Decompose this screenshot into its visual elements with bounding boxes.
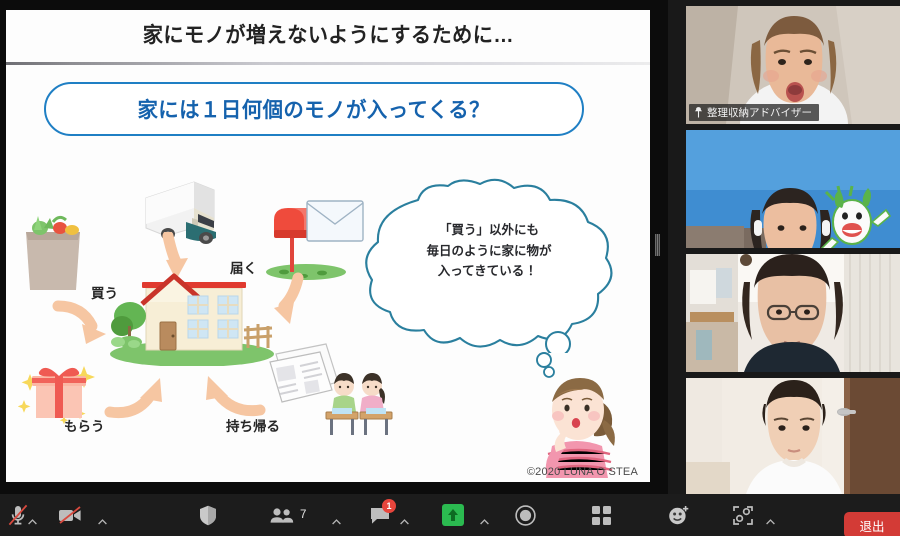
chat-button[interactable]: 1 (364, 494, 396, 536)
tile-1-name-badge: 整理収納アドバイザー (689, 104, 819, 121)
thought-bubble-line: 「買う」以外にも (358, 220, 620, 241)
share-screen-button[interactable] (436, 494, 470, 536)
video-tile-1[interactable]: 整理収納アドバイザー (686, 6, 900, 124)
video-options-chevron[interactable] (94, 494, 110, 536)
envelope-illustration (306, 200, 364, 242)
participants-options-chevron[interactable] (328, 494, 344, 536)
slide-question-text: 家には１日何個のモノが入ってくる？ (138, 94, 491, 124)
share-options-chevron[interactable] (476, 494, 492, 536)
chevron-up-icon (98, 519, 107, 525)
slide-question-box: 家には１日何個のモノが入ってくる？ (44, 82, 584, 136)
slide-copyright: ©2020 LUNA O STEA (527, 466, 638, 478)
thought-bubble: 「買う」以外にも毎日のように家に物が入ってきている ！ (358, 178, 620, 353)
participants-button[interactable] (266, 494, 298, 536)
title-divider (6, 62, 650, 65)
video-button[interactable] (52, 494, 88, 536)
chat-unread-badge: 1 (382, 499, 396, 513)
video-tile-4[interactable] (686, 378, 900, 494)
chevron-up-icon (766, 519, 775, 525)
participants-icon (270, 508, 294, 523)
leave-meeting-button[interactable]: 退出 (844, 512, 900, 536)
zoom-meeting-window: 家にモノが増えないようにするために… 家には１日何個のモノが入ってくる？ (0, 0, 900, 536)
meeting-toolbar: 7 1 (0, 494, 900, 536)
security-button[interactable] (190, 494, 226, 536)
reactions-button[interactable] (662, 494, 696, 536)
slide-title-text: 家にモノが増えないようにするために… (142, 19, 513, 49)
breakout-rooms-button[interactable] (726, 494, 760, 536)
apps-button[interactable] (584, 494, 618, 536)
chevron-up-icon (332, 519, 341, 525)
pin-icon (694, 107, 703, 118)
shared-screen-stage[interactable]: 家にモノが増えないようにするために… 家には１日何個のモノが入ってくる？ (0, 0, 668, 494)
label-bring-home: 持ち帰る (226, 415, 280, 435)
thought-bubble-line: 入ってきている ！ (358, 261, 620, 282)
share-screen-arrow-up-icon (442, 504, 464, 526)
thinking-girl-illustration (536, 368, 628, 478)
chat-options-chevron[interactable] (396, 494, 412, 536)
grocery-bag-illustration (20, 208, 86, 292)
record-circle-icon (515, 505, 536, 526)
slide-title: 家にモノが増えないようにするために… (6, 10, 650, 58)
resize-handle[interactable] (655, 234, 660, 256)
chevron-up-icon (28, 519, 37, 525)
breakout-rooms-icon (733, 505, 753, 525)
video-camera-muted-icon (58, 506, 82, 524)
record-button[interactable] (508, 494, 542, 536)
apps-grid-icon (592, 506, 611, 525)
house-illustration (108, 268, 276, 366)
presentation-slide: 家にモノが増えないようにするために… 家には１日何個のモノが入ってくる？ (6, 10, 650, 482)
chevron-up-icon (480, 519, 489, 525)
breakout-options-chevron[interactable] (762, 494, 778, 536)
shield-icon (199, 505, 217, 526)
participant-filmstrip: 整理収納アドバイザー (686, 0, 900, 494)
video-tile-3[interactable] (686, 254, 900, 372)
leave-label: 退出 (859, 516, 884, 535)
thought-bubble-line: 毎日のように家に物が (358, 241, 620, 262)
arrow-bringhome-to-house (186, 370, 268, 420)
mute-options-chevron[interactable] (24, 494, 40, 536)
participants-count: 7 (300, 494, 306, 536)
students-at-desks-illustration (324, 370, 396, 438)
smiley-plus-icon (668, 505, 690, 525)
video-tile-2[interactable] (686, 130, 900, 248)
label-receive: もらう (64, 415, 105, 435)
thought-bubble-text: 「買う」以外にも毎日のように家に物が入ってきている ！ (358, 220, 620, 282)
tile-1-name: 整理収納アドバイザー (707, 105, 812, 120)
arrow-gift-to-house (102, 372, 182, 420)
chevron-up-icon (400, 519, 409, 525)
